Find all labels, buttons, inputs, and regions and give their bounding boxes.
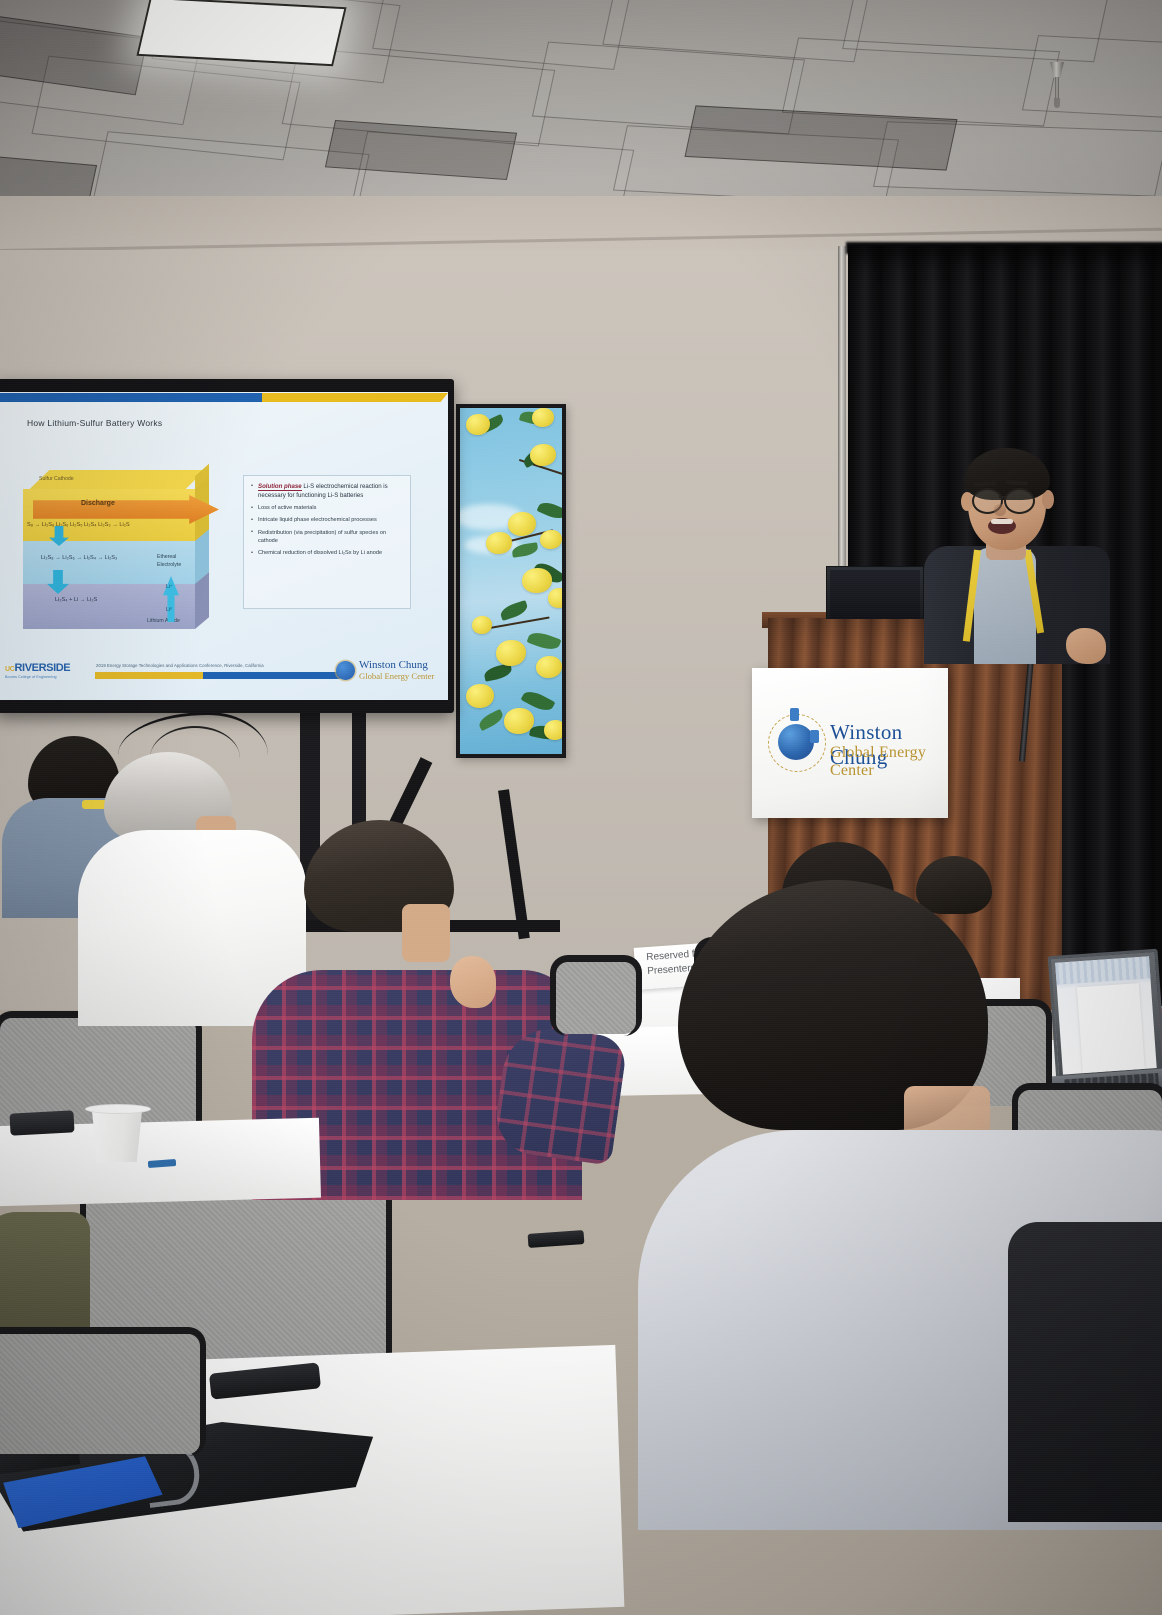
presenter-hand: [1066, 628, 1106, 664]
wc-logo-line1: Winston Chung: [359, 659, 428, 671]
conference-footer-text: 2019 Energy Storage Technologies and App…: [96, 663, 264, 668]
eyeglasses-bridge: [999, 496, 1006, 498]
bullet-item: Redistribution (via precipitation) of su…: [251, 529, 403, 546]
electrolyte-label-line2: Electrolyte: [157, 562, 181, 568]
presenter-mouth: [988, 518, 1016, 534]
ucr-logo-uc: UC: [5, 666, 15, 673]
electrolyte-label-line1: Ethereal: [157, 554, 176, 560]
battery-chip-icon: [790, 708, 799, 721]
ceiling-light-panel: [136, 0, 346, 66]
attendee-neck: [402, 904, 450, 962]
globe-icon: [778, 724, 814, 760]
ucr-logo-sub: Bourns College of Engineering: [5, 675, 70, 679]
footer-color-bar: [95, 672, 340, 679]
anode-label: Lithium Anode: [147, 618, 180, 624]
winston-chung-logo-slide: Winston Chung Global Energy Center: [336, 657, 446, 687]
presenter: [918, 432, 1118, 662]
eyeglasses-icon-right: [1004, 488, 1035, 514]
sprinkler-icon: [1050, 62, 1064, 112]
top-reaction: S₈ → Li₂S₈ Li₂S₆ Li₂S₅ Li₂S₄ Li₂S₃ → Li₂…: [27, 522, 130, 528]
podium-sign-line2: Global Energy Center: [830, 744, 948, 780]
bullet-item: Chemical reduction of dissolved Li₂Sx by…: [251, 549, 403, 557]
conference-room-photo: How Lithium-Sulfur Battery Works Sulfur …: [0, 0, 1162, 1615]
slide-title: How Lithium-Sulfur Battery Works: [27, 418, 162, 428]
ion-label-bottom: Li⁰: [166, 607, 172, 613]
bullet-item: Loss of active materials: [251, 504, 403, 512]
ucr-logo-name: RIVERSIDE: [15, 662, 71, 674]
bottom-reaction: Li₂S₄ + Li → Li₂S: [55, 597, 97, 603]
globe-icon: [336, 661, 355, 680]
glasses-case[interactable]: [9, 1110, 74, 1135]
curtain-rod: [838, 246, 846, 576]
battery-chip-icon-2: [810, 730, 819, 743]
phone-icon[interactable]: [528, 1230, 585, 1248]
discharge-label: Discharge: [81, 500, 115, 507]
chair[interactable]: [556, 962, 636, 1034]
bullet-lead: Solution phase Li-S electrochemical reac…: [251, 482, 403, 500]
bullet-item: Intricate liquid phase electrochemical p…: [251, 516, 403, 524]
wc-logo-line2: Global Energy Center: [359, 671, 434, 681]
lemon-tree-artwork: [456, 404, 566, 758]
battery-diagram: Sulfur Cathode Discharge S₈ → Li₂S₈ Li₂S…: [23, 470, 221, 629]
ucr-logo: UCRIVERSIDE Bourns College of Engineerin…: [5, 658, 70, 679]
cup-rim: [85, 1104, 151, 1114]
chair[interactable]: [0, 1334, 200, 1454]
cup-icon[interactable]: [88, 1106, 146, 1162]
attendee-hand: [450, 956, 496, 1008]
slide-bullet-box: Solution phase Li-S electrochemical reac…: [243, 475, 411, 609]
podium-laptop-icon: [826, 566, 924, 619]
backpack: [1008, 1222, 1162, 1522]
bullet-emphasis: Solution phase: [258, 483, 302, 491]
cathode-label: Sulfur Cathode: [39, 476, 74, 482]
slide-footer: UCRIVERSIDE Bourns College of Engineerin…: [0, 655, 448, 690]
presenter-nose: [994, 504, 1006, 516]
podium-sign: Winston Chung Global Energy Center: [752, 668, 948, 818]
middle-reaction: Li₂S₈ → Li₂S₆ → Li₂S₄ → Li₂S₃: [41, 555, 117, 561]
ion-label-top: Li⁺: [166, 584, 173, 590]
slide-header-bar: [0, 392, 448, 403]
